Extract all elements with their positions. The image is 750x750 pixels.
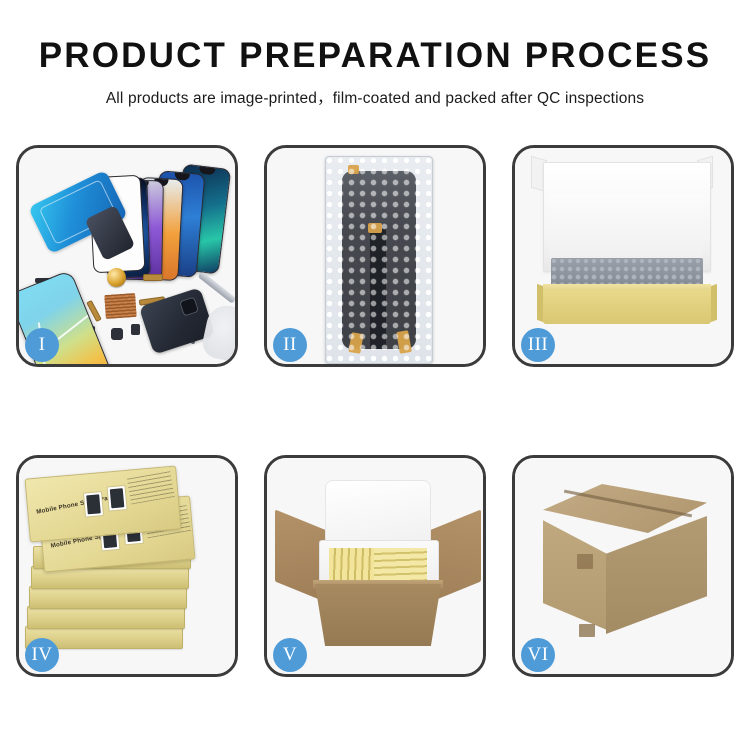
adhesive-tape-top: [348, 165, 359, 174]
yellow-box-base: [543, 290, 711, 324]
process-step-3[interactable]: III: [512, 145, 734, 367]
box-window-upper-1: [83, 491, 104, 518]
step-badge-6: VI: [521, 638, 555, 672]
process-step-1[interactable]: I: [16, 145, 238, 367]
foam-lid: [325, 480, 431, 548]
process-step-4[interactable]: Mobile Phone Spare Parts Mobile Phone Sp…: [16, 455, 238, 677]
step-badge-3: III: [521, 328, 555, 362]
adhesive-tape-mid: [368, 223, 382, 233]
process-step-2[interactable]: II: [264, 145, 486, 367]
packing-tape-upper: [577, 554, 593, 569]
carton-body: [315, 584, 441, 646]
carton-right-face: [606, 516, 707, 634]
step-badge-5: V: [273, 638, 307, 672]
stacked-box-top-upper: Mobile Phone Spare Parts: [25, 465, 182, 542]
stacked-box-5: [27, 606, 185, 629]
box-window-upper-2: [106, 485, 127, 512]
box-spec-lines-upper: [127, 471, 175, 504]
part-chip-2: [111, 328, 123, 340]
part-speaker-coil: [107, 268, 126, 287]
wrapped-flex-cable: [370, 229, 386, 349]
process-step-grid: I II III: [16, 145, 735, 677]
foam-sheet: [549, 194, 703, 258]
adhesive-tape-bottom-left: [348, 332, 363, 354]
packing-tape-lower: [579, 624, 595, 637]
process-step-6[interactable]: VI: [512, 455, 734, 677]
process-step-5[interactable]: V: [264, 455, 486, 677]
stacked-box-4: [29, 586, 187, 609]
bubble-wrap-bag: [325, 156, 433, 364]
page-subtitle: All products are image-printed，film-coat…: [0, 86, 750, 108]
step-badge-2: II: [273, 328, 307, 362]
step-badge-4: IV: [25, 638, 59, 672]
part-copper-mesh: [104, 293, 137, 319]
page-title: PRODUCT PREPARATION PROCESS: [0, 38, 750, 75]
part-flex-cable-1: [143, 274, 163, 281]
box-label-upper: Mobile Phone Spare Parts: [36, 493, 117, 515]
carton-left-face: [543, 518, 607, 630]
step-badge-1: I: [25, 328, 59, 362]
part-chip-3: [131, 324, 140, 335]
page-header: PRODUCT PREPARATION PROCESS All products…: [0, 0, 750, 108]
